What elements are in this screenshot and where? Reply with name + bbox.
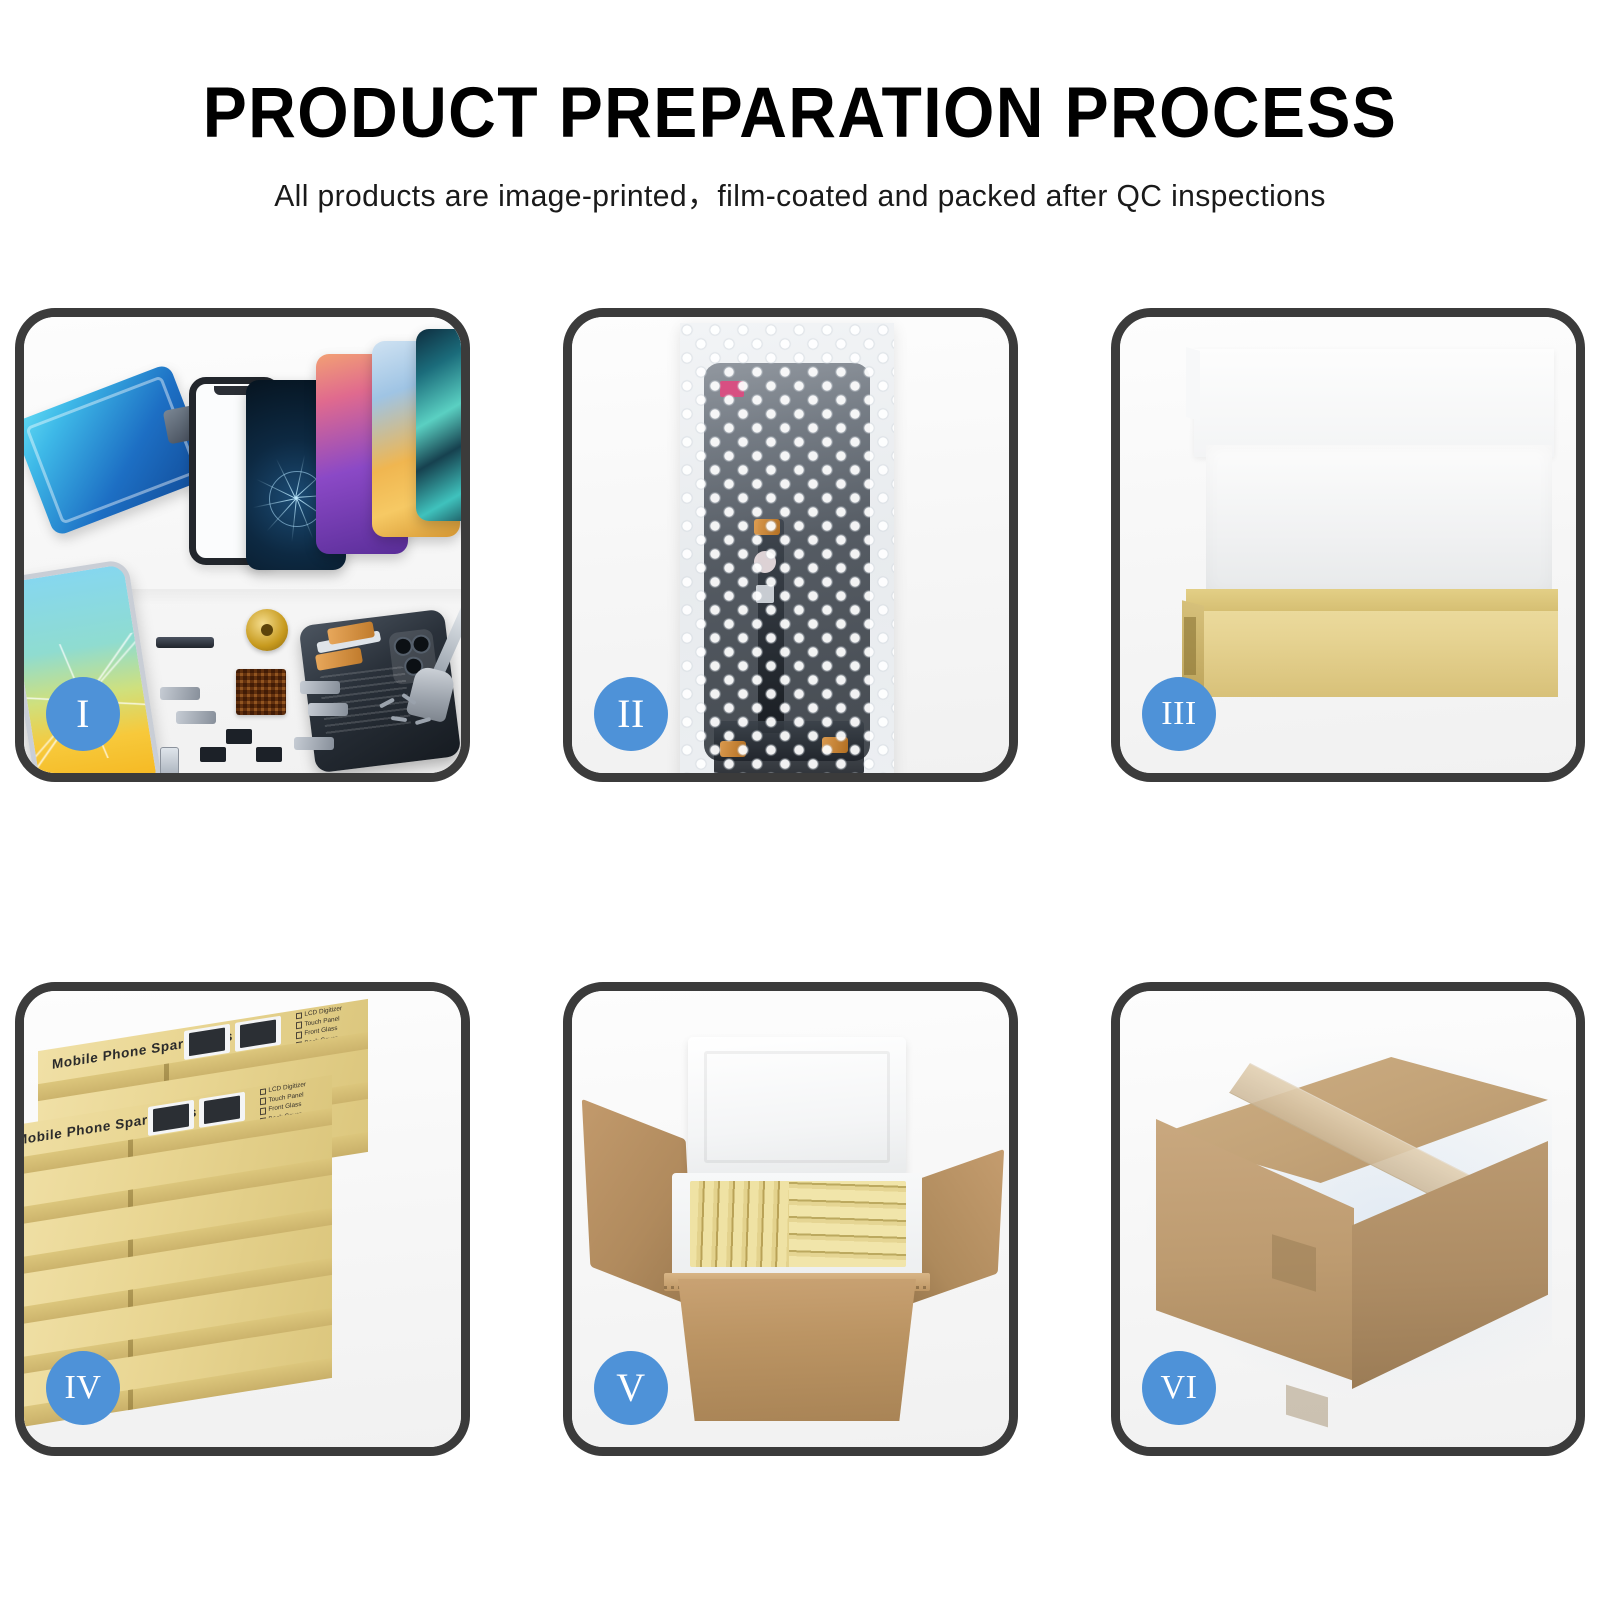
screws-group xyxy=(379,697,439,731)
speaker-component xyxy=(156,637,214,648)
foam-sheet-liner xyxy=(1206,445,1552,595)
step-badge-5: V xyxy=(594,1351,668,1425)
step-badge-2: II xyxy=(594,677,668,751)
sim-tray-component xyxy=(160,747,179,773)
step-card-6: VI xyxy=(1111,982,1585,1456)
adhesive-sheet-part xyxy=(24,363,212,537)
bga-chip-component xyxy=(236,669,286,715)
retail-box-row-right xyxy=(789,1181,906,1267)
carton-front-panel xyxy=(678,1279,916,1421)
step-badge-6: VI xyxy=(1142,1351,1216,1425)
orange-flex-cable-b xyxy=(315,647,363,671)
grey-flex-cable-d xyxy=(308,703,348,716)
step-badge-1: I xyxy=(46,677,120,751)
page-title: PRODUCT PREPARATION PROCESS xyxy=(56,78,1544,149)
step-card-1: I xyxy=(15,308,470,782)
bubble-texture-overlay xyxy=(680,323,894,773)
page-header: PRODUCT PREPARATION PROCESS All products… xyxy=(0,0,1600,250)
retail-box-row-left xyxy=(690,1181,789,1267)
step-badge-4: IV xyxy=(46,1351,120,1425)
bubble-wrap-bag xyxy=(680,323,894,773)
black-chip-c xyxy=(200,747,226,762)
styrofoam-cooler-lid xyxy=(688,1037,906,1177)
small-components-group xyxy=(152,607,412,773)
teal-lcd-screen-part xyxy=(416,329,461,521)
mailer-box-lip xyxy=(1186,589,1558,611)
mailer-box-inner-edge xyxy=(1184,617,1196,675)
step-card-5: V xyxy=(563,982,1018,1456)
grey-flex-cable-b xyxy=(176,711,216,724)
step-card-3: III xyxy=(1111,308,1585,782)
grey-flex-cable-a xyxy=(160,687,200,700)
black-chip-a xyxy=(226,729,252,744)
page-subtitle: All products are image-printed，film-coat… xyxy=(24,170,1576,215)
packed-retail-boxes xyxy=(690,1181,906,1267)
wireless-charging-coil xyxy=(246,609,288,651)
black-chip-b xyxy=(256,747,282,762)
grey-flex-cable-c xyxy=(300,681,340,694)
orange-flex-cable-a xyxy=(327,621,375,645)
step-card-4: Mobile Phone Spare Parts LCD Digitizer T… xyxy=(15,982,470,1456)
grey-flex-cable-e xyxy=(294,737,334,750)
step-card-2: II xyxy=(563,308,1018,782)
step-badge-3: III xyxy=(1142,677,1216,751)
mailer-lid-flap xyxy=(1194,349,1554,457)
